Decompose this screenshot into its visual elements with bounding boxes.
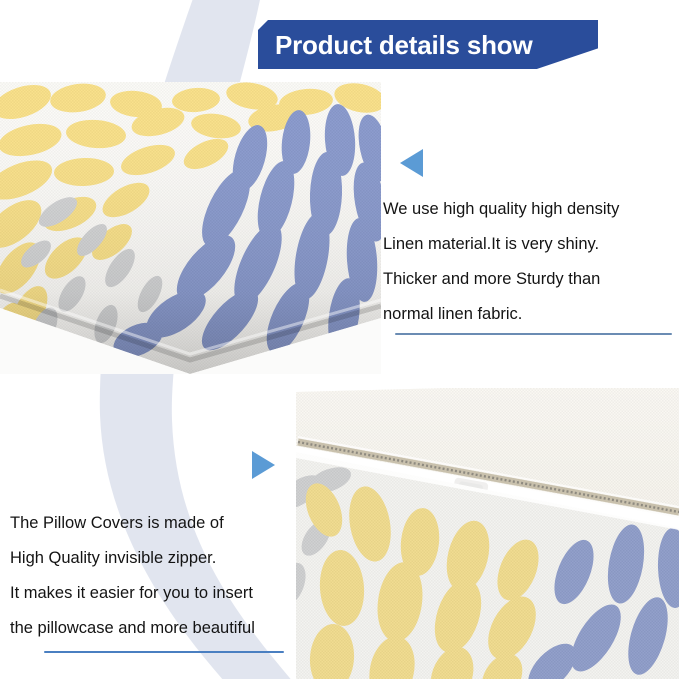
copy-top-line-4: normal linen fabric. (383, 297, 619, 332)
header-banner: Product details show (258, 20, 598, 69)
arrow-right-icon (252, 451, 275, 479)
divider-bottom (44, 651, 284, 653)
divider-top (395, 333, 672, 335)
copy-top-line-3: Thicker and more Sturdy than (383, 262, 619, 297)
product-photo-fabric-closeup (0, 82, 381, 374)
copy-top-line-2: Linen material.It is very shiny. (383, 227, 619, 262)
product-photo-zipper-detail (296, 388, 679, 679)
fabric-description-text: We use high quality high density Linen m… (383, 192, 619, 332)
copy-bottom-line-4: the pillowcase and more beautiful (10, 611, 255, 646)
product-details-infographic: Product details show We use high quality… (0, 0, 679, 679)
copy-bottom-line-1: The Pillow Covers is made of (10, 506, 255, 541)
copy-bottom-line-3: It makes it easier for you to insert (10, 576, 255, 611)
copy-top-line-1: We use high quality high density (383, 192, 619, 227)
copy-bottom-line-2: High Quality invisible zipper. (10, 541, 255, 576)
arrow-left-icon (400, 149, 423, 177)
zipper-description-text: The Pillow Covers is made of High Qualit… (10, 506, 255, 646)
page-title: Product details show (258, 20, 598, 69)
